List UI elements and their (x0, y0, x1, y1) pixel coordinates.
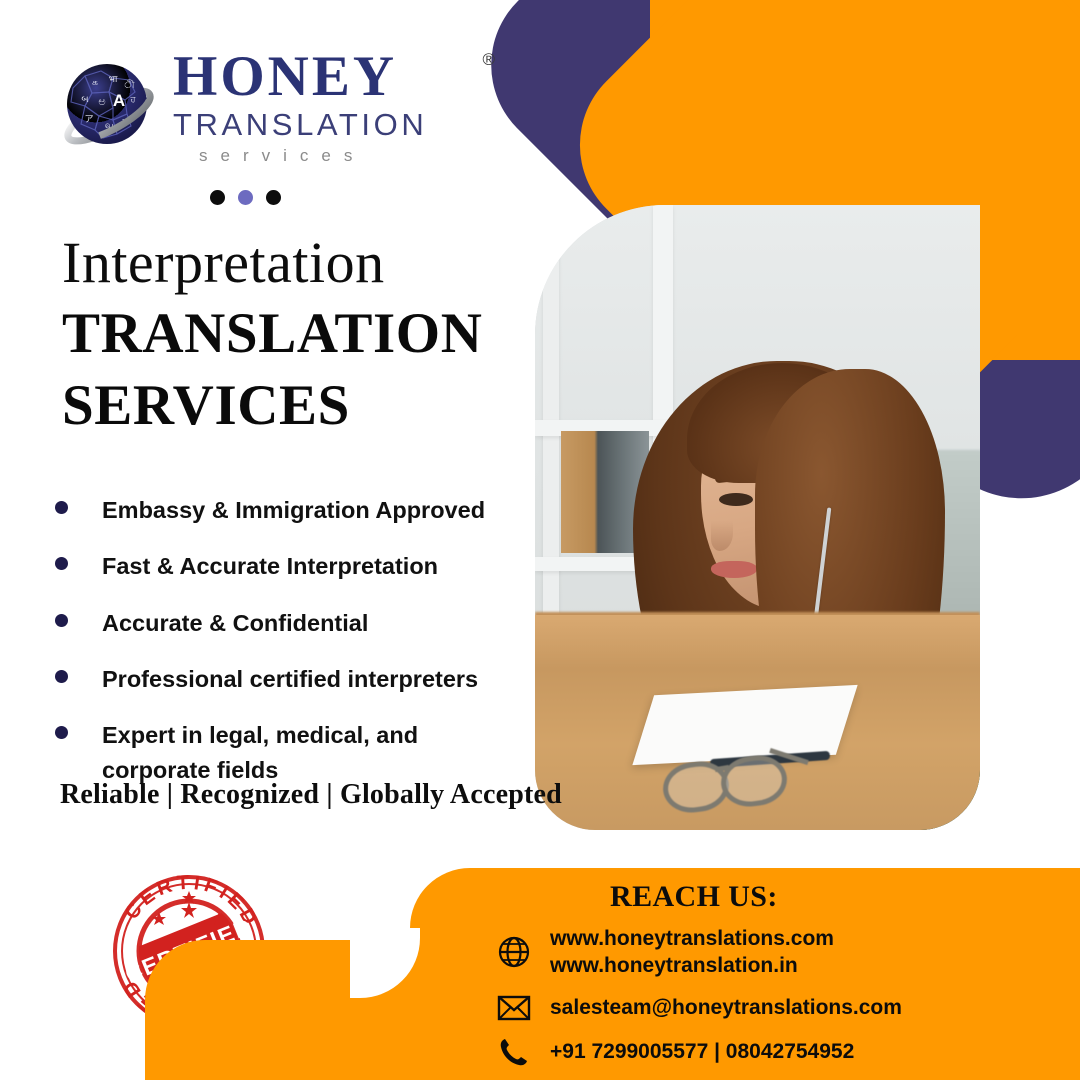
svg-text:ア: ア (84, 115, 93, 125)
bullet-dot-icon (55, 614, 68, 627)
website-line-2: www.honeytranslation.in (550, 952, 834, 979)
dot-3 (266, 190, 281, 205)
list-item: Expert in legal, medical, and corporate … (55, 718, 535, 789)
headline-script: Interpretation (62, 232, 532, 295)
headline-bold-2: SERVICES (62, 373, 532, 440)
feature-text: Professional certified interpreters (102, 662, 478, 697)
registered-trademark-icon: ® (482, 50, 495, 70)
photo-shelf-vertical-1 (543, 205, 559, 675)
svg-text:க: க (92, 78, 98, 88)
poster-canvas: க भा ী બ ಅ ਹ ア வ ਖ A HONEY ® TRANSLATION… (0, 0, 1080, 1080)
headline-block: Interpretation TRANSLATION SERVICES (62, 232, 532, 440)
feature-text: Accurate & Confidential (102, 606, 368, 641)
photo-lips (711, 561, 757, 578)
tagline: Reliable | Recognized | Globally Accepte… (60, 779, 562, 811)
svg-text:ী: ী (123, 79, 134, 91)
feature-text: Fast & Accurate Interpretation (102, 549, 438, 584)
list-item: Embassy & Immigration Approved (55, 493, 535, 528)
logo-line-translation: TRANSLATION (173, 109, 473, 140)
photo-eye (719, 493, 753, 506)
svg-text:भा: भा (109, 75, 118, 85)
headline-bold-1: TRANSLATION (62, 301, 532, 368)
svg-text:બ: બ (81, 95, 88, 105)
logo-wordmark: HONEY ® TRANSLATION services (173, 48, 473, 164)
footer-corner-notch (350, 928, 420, 998)
photo-eyeglasses (663, 754, 803, 808)
feature-list: Embassy & Immigration Approved Fast & Ac… (55, 493, 535, 810)
phone-text: +91 7299005577 | 08042754952 (550, 1038, 854, 1065)
feature-text: Expert in legal, medical, and corporate … (102, 718, 452, 789)
globe-icon: க भा ী બ ಅ ਹ ア வ ਖ A (55, 54, 163, 162)
email-text: salesteam@honeytranslations.com (550, 994, 902, 1021)
list-item: Fast & Accurate Interpretation (55, 549, 535, 584)
contact-row-phone[interactable]: +91 7299005577 | 08042754952 (492, 1036, 1052, 1068)
bullet-dot-icon (55, 726, 68, 739)
bullet-dot-icon (55, 670, 68, 683)
list-item: Professional certified interpreters (55, 662, 535, 697)
website-text: www.honeytranslations.com www.honeytrans… (550, 925, 834, 980)
dot-2 (238, 190, 253, 205)
list-item: Accurate & Confidential (55, 606, 535, 641)
bullet-dot-icon (55, 501, 68, 514)
svg-text:A: A (113, 91, 125, 110)
brand-logo[interactable]: க भा ী બ ಅ ਹ ア வ ਖ A HONEY ® TRANSLATION… (55, 48, 415, 173)
decorative-dots (210, 190, 281, 205)
bullet-dot-icon (55, 557, 68, 570)
website-line-1: www.honeytranslations.com (550, 927, 834, 950)
dot-1 (210, 190, 225, 205)
contact-row-website[interactable]: www.honeytranslations.com www.honeytrans… (492, 925, 1052, 980)
svg-text:ಅ: ಅ (98, 95, 105, 108)
photo-content (535, 205, 980, 830)
reach-us-heading: REACH US: (610, 880, 778, 914)
hero-photo-interpreter (535, 205, 980, 830)
envelope-icon (492, 994, 536, 1022)
feature-text: Embassy & Immigration Approved (102, 493, 485, 528)
contact-row-email[interactable]: salesteam@honeytranslations.com (492, 994, 1052, 1022)
globe-icon (492, 935, 536, 969)
photo-glasses-lens-right (718, 752, 790, 811)
phone-icon (492, 1036, 536, 1068)
contact-details-list: www.honeytranslations.com www.honeytrans… (492, 925, 1052, 1080)
logo-line-services: services (173, 147, 473, 164)
logo-brand-name: HONEY (173, 48, 397, 105)
